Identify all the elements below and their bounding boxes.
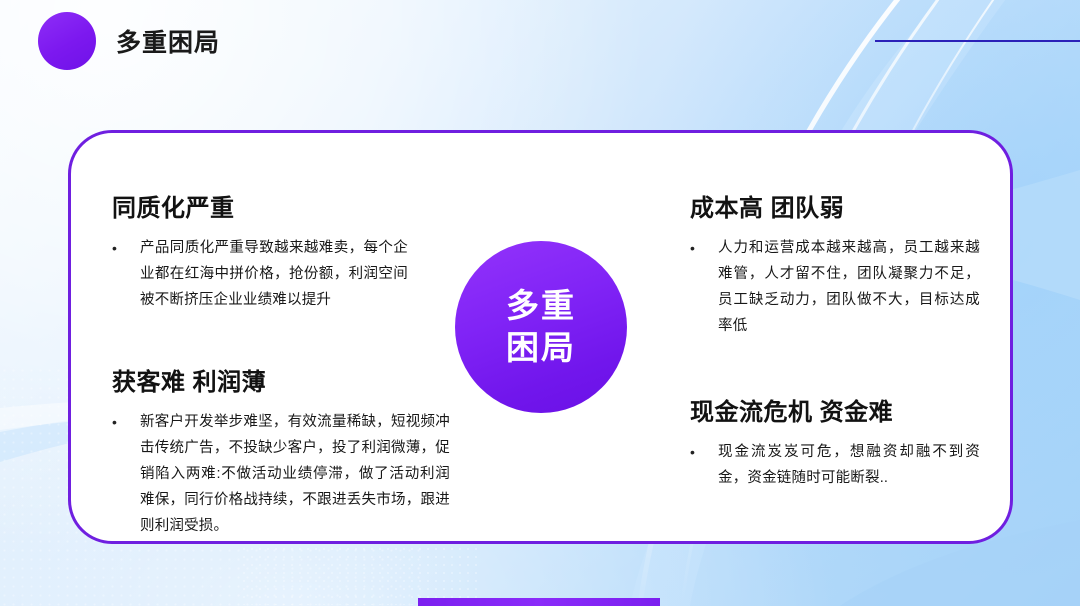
content-block-cashflow: 现金流危机 资金难 • 现金流岌岌可危，想融资却融不到资金，资金链随时可能断裂.…: [690, 392, 980, 491]
bullet-item: • 现金流岌岌可危，想融资却融不到资金，资金链随时可能断裂..: [690, 439, 980, 491]
page-title: 多重困局: [116, 23, 220, 59]
bullet-dot-icon: •: [690, 235, 704, 261]
content-block-homogenization: 同质化严重 • 产品同质化严重导致越来越难卖，每个企业都在红海中拼价格，抢份额，…: [112, 188, 412, 313]
content-block-cost-team: 成本高 团队弱 • 人力和运营成本越来越高，员工越来越难管，人才留不住，团队凝聚…: [690, 188, 980, 339]
bullet-text: 产品同质化严重导致越来越难卖，每个企业都在红海中拼价格，抢份额，利润空间被不断挤…: [140, 235, 408, 313]
bullet-dot-icon: •: [112, 235, 126, 261]
slide-canvas: 多重困局 多重 困局 同质化严重 • 产品同质化严重导致越来越难卖，每个企业都在…: [0, 0, 1080, 606]
bottom-accent-bar: [418, 598, 660, 606]
center-emblem-line-2: 困局: [506, 327, 576, 369]
bullet-dot-icon: •: [690, 439, 704, 465]
background-dot-pattern-secondary: [240, 545, 480, 605]
block-heading: 成本高 团队弱: [690, 188, 980, 223]
bullet-item: • 新客户开发举步难坚，有效流量稀缺，短视频冲击传统广告，不投缺少客户，投了利润…: [112, 409, 452, 539]
block-heading: 获客难 利润薄: [112, 362, 452, 397]
center-emblem-circle: 多重 困局: [455, 241, 627, 413]
block-heading: 现金流危机 资金难: [690, 392, 980, 427]
bullet-dot-icon: •: [112, 409, 126, 435]
bullet-item: • 产品同质化严重导致越来越难卖，每个企业都在红海中拼价格，抢份额，利润空间被不…: [112, 235, 412, 313]
bullet-text: 新客户开发举步难坚，有效流量稀缺，短视频冲击传统广告，不投缺少客户，投了利润微薄…: [140, 409, 450, 539]
purple-circle-icon: [38, 12, 96, 70]
bullet-text: 人力和运营成本越来越高，员工越来越难管，人才留不住，团队凝聚力不足，员工缺乏动力…: [718, 235, 980, 339]
center-emblem-line-1: 多重: [506, 285, 576, 327]
content-block-customer-acquisition: 获客难 利润薄 • 新客户开发举步难坚，有效流量稀缺，短视频冲击传统广告，不投缺…: [112, 362, 452, 539]
header-rule-line: [875, 40, 1080, 42]
bullet-text: 现金流岌岌可危，想融资却融不到资金，资金链随时可能断裂..: [718, 439, 980, 491]
block-heading: 同质化严重: [112, 188, 412, 223]
slide-header: 多重困局: [38, 12, 220, 70]
bullet-item: • 人力和运营成本越来越高，员工越来越难管，人才留不住，团队凝聚力不足，员工缺乏…: [690, 235, 980, 339]
